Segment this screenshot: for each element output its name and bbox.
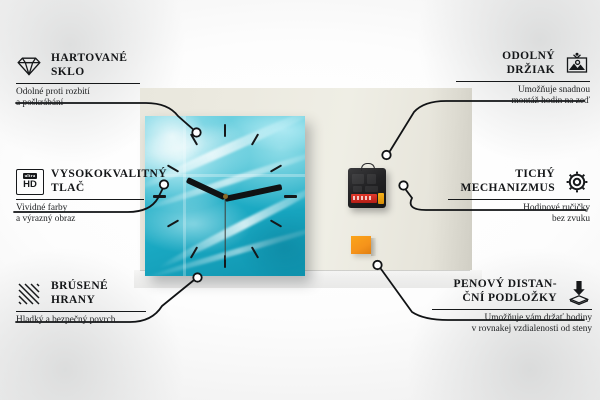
feature-desc-line1: Vividné farby [16,203,152,214]
feature-desc-line1: Umožňuje vám držať hodiny [424,313,592,324]
hatched-edge-icon [16,281,42,307]
feature-polished-edges: BRÚSENÉ HRANY Hladký a bezpečný povrch [16,280,154,326]
feature-title: TICHÝ MECHANIZMUS [461,168,556,195]
feature-hardened-glass: HARTOVANÉ SKLO Odolné proti rozbití a po… [16,52,148,110]
feature-title: VYSOKOKVALITNÝ TLAČ [51,168,167,195]
product-photo [140,88,472,286]
feature-desc-line2: v rovnakej vzdialenosti od steny [424,324,592,335]
feature-desc-line1: Hodinové ručičky [440,203,590,214]
battery [351,194,377,203]
feature-desc-line1: Hladký a bezpečný povrch [16,315,154,326]
divider [456,81,590,82]
feature-desc-line1: Odolné proti rozbití [16,87,148,98]
battery-terminal [378,193,384,204]
divider [16,199,144,200]
feature-title: BRÚSENÉ HRANY [51,280,108,307]
diamond-icon [16,53,42,79]
divider [448,199,590,200]
wall-mounted-frame-icon [564,51,590,77]
ultra-hd-badge-icon: ultra HD [16,169,42,195]
feature-title: ODOLNÝ DRŽIAK [502,50,555,77]
glass-wall-clock [145,116,305,276]
divider [16,83,140,84]
hd-label: HD [23,180,37,190]
foam-spacer-arrow-icon [566,279,592,305]
feature-title: HARTOVANÉ SKLO [51,52,127,79]
feature-title: PENOVÝ DISTAN- ČNÍ PODLOŽKY [454,278,557,305]
feature-desc-line2: montáž hodin na zeď [448,96,590,107]
feature-high-quality-print: ultra HD VYSOKOKVALITNÝ TLAČ Vividné far… [16,168,152,226]
infographic-canvas: HARTOVANÉ SKLO Odolné proti rozbití a po… [0,0,600,400]
feature-silent-mechanism: TICHÝ MECHANIZMUS Hodinové ručičky bez z… [440,168,590,226]
gear-icon [564,169,590,195]
feature-durable-hanger: ODOLNÝ DRŽIAK Umožňuje snadnou montáž ho… [448,50,590,108]
second-hand [224,197,225,259]
foam-spacer-pad [351,236,371,254]
clock-center-pin [223,194,228,199]
feature-desc-line2: bez zvuku [440,214,590,225]
feature-desc-line2: a poškrábání [16,98,148,109]
feature-foam-spacers: PENOVÝ DISTAN- ČNÍ PODLOŽKY Umožňuje vám… [424,278,592,336]
hanger-loop-icon [361,163,375,171]
divider [432,309,592,310]
feature-desc-line1: Umožňuje snadnou [448,85,590,96]
divider [16,311,146,312]
feature-desc-line2: a výrazný obraz [16,214,152,225]
clock-movement-box [348,168,386,208]
